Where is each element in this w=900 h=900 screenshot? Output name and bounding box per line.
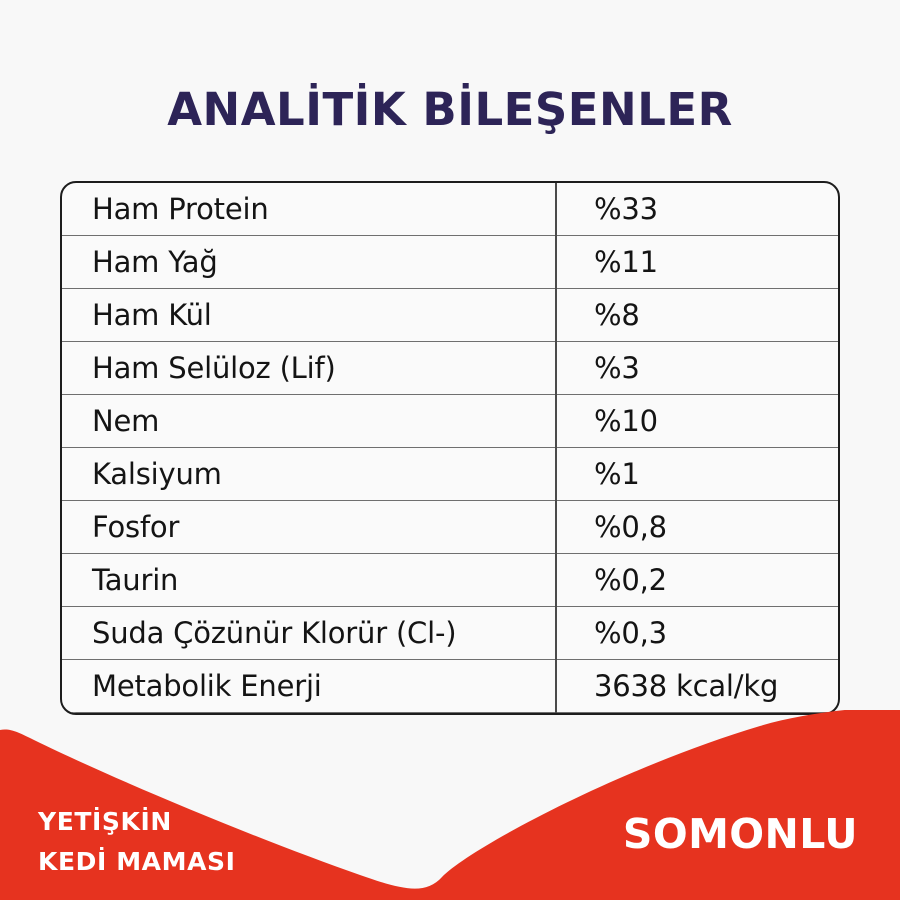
row-label: Metabolik Enerji [62, 672, 555, 701]
row-value: %33 [555, 195, 838, 224]
row-value: %11 [555, 248, 838, 277]
table-row: Metabolik Enerji 3638 kcal/kg [62, 660, 838, 713]
row-value: 3638 kcal/kg [555, 672, 838, 701]
row-label: Suda Çözünür Klorür (Cl-) [62, 619, 555, 648]
product-label-panel: ANALİTİK BİLEŞENLER Ham Protein %33 Ham … [0, 0, 900, 900]
table-row: Ham Yağ %11 [62, 236, 838, 289]
page-title: ANALİTİK BİLEŞENLER [0, 83, 900, 137]
row-value: %1 [555, 460, 838, 489]
row-value: %8 [555, 301, 838, 330]
banner-product-type: YETİŞKİN KEDİ MAMASI [38, 802, 236, 882]
row-label: Ham Protein [62, 195, 555, 224]
banner-line-2: KEDİ MAMASI [38, 842, 236, 882]
row-label: Nem [62, 407, 555, 436]
table-row: Ham Protein %33 [62, 183, 838, 236]
row-value: %0,8 [555, 513, 838, 542]
row-label: Ham Yağ [62, 248, 555, 277]
table-row: Suda Çözünür Klorür (Cl-) %0,3 [62, 607, 838, 660]
row-value: %0,3 [555, 619, 838, 648]
row-value: %10 [555, 407, 838, 436]
table-row: Nem %10 [62, 395, 838, 448]
row-label: Kalsiyum [62, 460, 555, 489]
row-label: Fosfor [62, 513, 555, 542]
banner-line-1: YETİŞKİN [38, 802, 236, 842]
table-row: Fosfor %0,8 [62, 501, 838, 554]
table-row: Taurin %0,2 [62, 554, 838, 607]
table-row: Ham Kül %8 [62, 289, 838, 342]
bottom-brand-banner: YETİŞKİN KEDİ MAMASI SOMONLU [0, 710, 900, 900]
row-label: Ham Selüloz (Lif) [62, 354, 555, 383]
row-label: Ham Kül [62, 301, 555, 330]
table-body: Ham Protein %33 Ham Yağ %11 Ham Kül %8 H… [62, 183, 838, 713]
row-value: %0,2 [555, 566, 838, 595]
table-row: Kalsiyum %1 [62, 448, 838, 501]
banner-flavour-label: SOMONLU [623, 810, 858, 858]
row-label: Taurin [62, 566, 555, 595]
analytical-constituents-table: Ham Protein %33 Ham Yağ %11 Ham Kül %8 H… [60, 181, 840, 715]
row-value: %3 [555, 354, 838, 383]
table-row: Ham Selüloz (Lif) %3 [62, 342, 838, 395]
